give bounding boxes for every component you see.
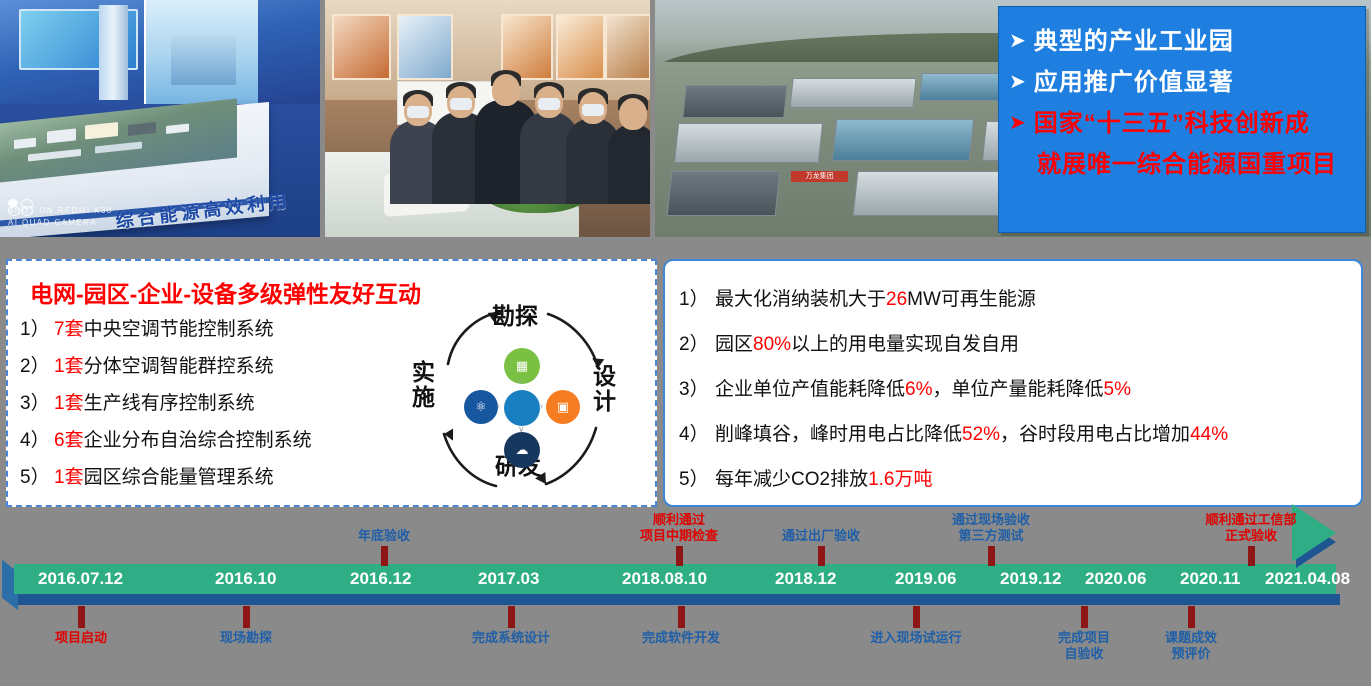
chevron-right-arrow-icon: ➤: [1009, 62, 1027, 103]
slide-root: 综合能源高效利用 SHOT ON REDMI K30 AI QUAD CAMER…: [0, 0, 1371, 686]
list-item: 4）削峰填谷，峰时用电占比降低52%，谷时段用电占比增加44%: [679, 412, 1361, 457]
list-text: ，谷时段用电占比增加: [1000, 424, 1190, 445]
timeline-stem: [1248, 546, 1255, 566]
right-panel-list: 1）最大化消纳装机大于26MW可再生能源 2）园区80%以上的用电量实现自发自用…: [665, 261, 1361, 502]
list-index: 2）: [20, 348, 54, 385]
timeline-date: 2018.08.10: [622, 569, 707, 589]
timeline-date: 2020.06: [1085, 569, 1146, 589]
timeline-stem: [913, 606, 920, 628]
hall-screen-2: [397, 14, 453, 80]
hall-screen-1: [332, 14, 391, 80]
list-count: 7套: [54, 319, 84, 340]
headset-node-icon: ⚛: [464, 390, 498, 424]
briefcase-node-icon: ▣: [546, 390, 580, 424]
factory-roof: [832, 119, 974, 161]
timeline-note: 通过现场验收第三方测试: [932, 512, 1050, 544]
list-index: 4）: [679, 412, 715, 457]
factory-roof: [667, 171, 781, 216]
list-text: 每年减少CO2排放: [715, 469, 868, 490]
list-index: 4）: [20, 422, 54, 459]
cycle-label-left: 实施: [412, 360, 436, 410]
timeline-stem: [678, 606, 685, 628]
timeline-date: 2018.12: [775, 569, 836, 589]
list-count: 1套: [54, 356, 84, 377]
list-count: 1套: [54, 467, 84, 488]
factory-sign: 万龙集团: [791, 171, 848, 183]
callout-item-label: 国家“十三五”科技创新成: [1034, 103, 1310, 144]
timeline-stem: [381, 546, 388, 566]
booth-poster: [144, 0, 258, 104]
timeline-date: 2020.11: [1180, 569, 1241, 589]
list-metric: 6%: [905, 379, 932, 400]
center-node-icon: [504, 390, 540, 426]
list-metric: 26: [886, 289, 907, 310]
hall-screen-5: [605, 14, 651, 80]
timeline-note: 年底验收: [325, 528, 443, 544]
list-text: ，单位产量能耗降低: [932, 379, 1103, 400]
timeline-stem: [988, 546, 995, 566]
cycle-label-top: 勘探: [492, 304, 538, 329]
list-text: 企业单位产值能耗降低: [715, 379, 905, 400]
timeline-date: 2019.06: [895, 569, 956, 589]
chevron-right-arrow-icon: ➤: [1009, 103, 1027, 144]
right-content-panel: 1）最大化消纳装机大于26MW可再生能源 2）园区80%以上的用电量实现自发自用…: [663, 259, 1363, 507]
tick-right-icon: ›: [540, 401, 543, 411]
list-text: 园区综合能量管理系统: [84, 467, 274, 488]
camera-watermark: SHOT ON REDMI K30 AI QUAD CAMERA: [8, 205, 113, 229]
factory-sign-text: 万龙集团: [791, 171, 848, 182]
factory-roof: [674, 123, 823, 163]
list-text: 以上的用电量实现自发自用: [791, 334, 1019, 355]
timeline-stem: [676, 546, 683, 566]
timeline-stem: [1188, 606, 1195, 628]
tick-left-icon: ‹: [497, 401, 500, 411]
list-text: 最大化消纳装机大于: [715, 289, 886, 310]
list-index: 5）: [679, 457, 715, 502]
timeline-date: 2021.04.08: [1265, 569, 1350, 589]
timeline-date: 2019.12: [1000, 569, 1061, 589]
callout-item: ➤ 应用推广价值显著: [1009, 62, 1359, 103]
timeline-note: 项目启动: [22, 630, 140, 646]
callout-item-label: 应用推广价值显著: [1034, 62, 1234, 103]
list-index: 3）: [20, 385, 54, 422]
list-index: 2）: [679, 322, 715, 367]
list-text: 中央空调节能控制系统: [84, 319, 274, 340]
timeline-note: 顺利通过工信部正式验收: [1192, 512, 1310, 544]
list-metric: 5%: [1104, 379, 1131, 400]
list-item: 5）每年减少CO2排放1.6万吨: [679, 457, 1361, 502]
timeline-note: 现场勘探: [187, 630, 305, 646]
timeline-date: 2016.10: [215, 569, 276, 589]
timeline-date: 2016.07.12: [38, 569, 123, 589]
list-metric: 1.6万吨: [868, 469, 932, 490]
chevron-right-arrow-icon: ➤: [1009, 21, 1027, 62]
callout-item-label: 典型的产业工业园: [1034, 21, 1234, 62]
tick-down-icon: ∨: [518, 424, 525, 435]
list-item: 1）最大化消纳装机大于26MW可再生能源: [679, 277, 1361, 322]
timeline-date: 2016.12: [350, 569, 411, 589]
list-text: 削峰填谷，峰时用电占比降低: [715, 424, 962, 445]
list-text: 企业分布自治综合控制系统: [84, 430, 312, 451]
list-index: 5）: [20, 459, 54, 496]
list-text: MW可再生能源: [907, 289, 1036, 310]
list-count: 6套: [54, 430, 84, 451]
timeline-note: 完成系统设计: [452, 630, 570, 646]
list-metric: 80%: [753, 334, 791, 355]
timeline-date: 2017.03: [478, 569, 539, 589]
timeline-note: 完成项目自验收: [1025, 630, 1143, 662]
hall-screen-4: [556, 14, 606, 80]
list-text: 园区: [715, 334, 753, 355]
factory-roof: [853, 171, 1017, 216]
project-timeline: 2016.07.122016.102016.122017.032018.08.1…: [0, 512, 1371, 686]
timeline-note: 完成软件开发: [622, 630, 740, 646]
highlight-callout: ➤ 典型的产业工业园 ➤ 应用推广价值显著 ➤ 国家“十三五”科技创新成 就展唯…: [998, 6, 1366, 233]
list-index: 1）: [20, 311, 54, 348]
list-text: 生产线有序控制系统: [84, 393, 255, 414]
timeline-note: 顺利通过项目中期检查: [620, 512, 738, 544]
callout-item: ➤ 典型的产业工业园: [1009, 21, 1359, 62]
timeline-stem: [78, 606, 85, 628]
timeline-note: 通过出厂验收: [762, 528, 880, 544]
callout-continuation: 就展唯一综合能源国重项目: [999, 144, 1365, 185]
factory-roof: [682, 85, 788, 118]
timeline-stem: [818, 546, 825, 566]
tick-up-icon: ^: [518, 378, 522, 388]
timeline-stem: [1081, 606, 1088, 628]
timeline-note: 进入现场试运行: [857, 630, 975, 646]
factory-roof: [789, 78, 916, 108]
delegation-visit-photo: [325, 0, 650, 237]
cycle-label-right: 设计: [593, 364, 617, 414]
expo-model-photo: 综合能源高效利用 SHOT ON REDMI K30 AI QUAD CAMER…: [0, 0, 320, 237]
booth-pillar: [99, 5, 128, 100]
list-index: 1）: [679, 277, 715, 322]
list-item: 3）企业单位产值能耗降低6%，单位产量能耗降低5%: [679, 367, 1361, 412]
cloud-upload-node-icon: ☁: [504, 432, 540, 468]
list-index: 3）: [679, 367, 715, 412]
list-metric: 52%: [962, 424, 1000, 445]
callout-item: ➤ 国家“十三五”科技创新成: [1009, 103, 1359, 144]
timeline-stem: [508, 606, 515, 628]
pdca-cycle-diagram: 勘探 设计 研发 实施 ▦ ⚛ ▣ ☁ ^ ∨ ‹ ›: [400, 298, 640, 503]
list-metric: 44%: [1190, 424, 1228, 445]
visitor-6: [608, 124, 650, 204]
timeline-note: 课题成效预评价: [1132, 630, 1250, 662]
timeline-stem: [243, 606, 250, 628]
callout-list: ➤ 典型的产业工业园 ➤ 应用推广价值显著 ➤ 国家“十三五”科技创新成: [999, 7, 1365, 144]
timeline-bar-shadow: [18, 594, 1340, 605]
list-item: 2）园区80%以上的用电量实现自发自用: [679, 322, 1361, 367]
list-text: 分体空调智能群控系统: [84, 356, 274, 377]
list-count: 1套: [54, 393, 84, 414]
